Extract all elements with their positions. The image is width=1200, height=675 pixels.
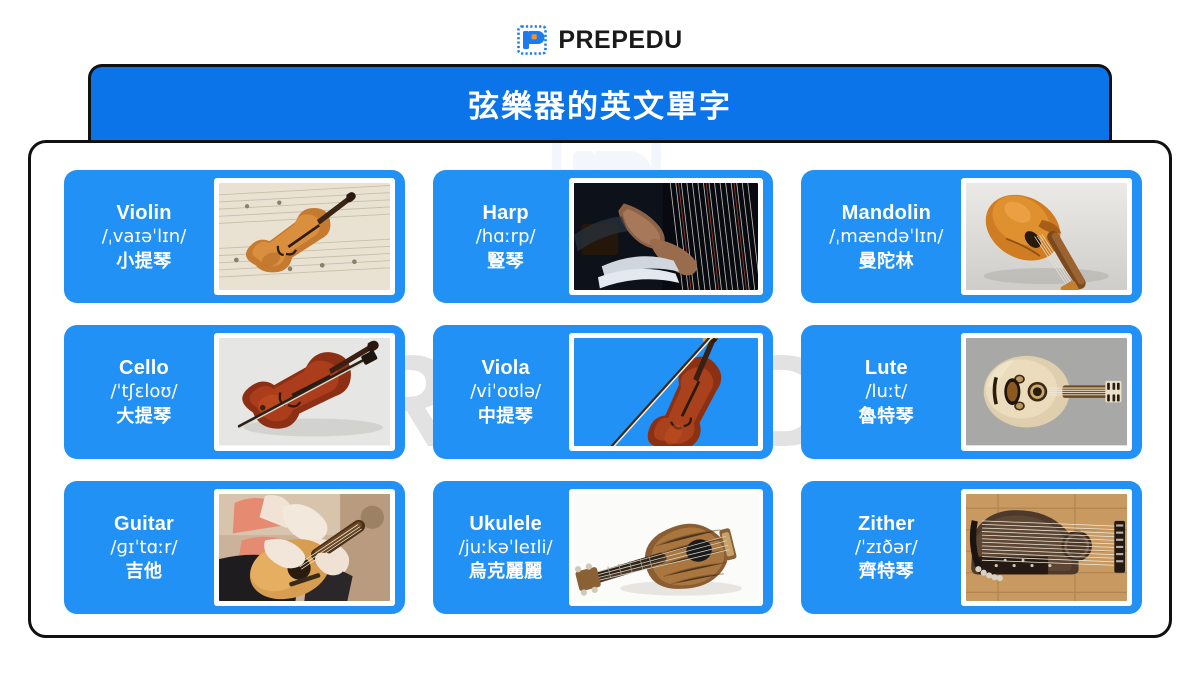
ipa-label: /ˌmændəˈlɪn/: [829, 226, 943, 249]
zither-photo: [961, 489, 1132, 606]
translation-label: 吉他: [126, 560, 163, 583]
cello-with-bow-photo: [214, 333, 395, 450]
vocab-card-text: Viola /viˈoʊlə/ 中提琴: [443, 356, 569, 427]
vocab-card-text: Mandolin /ˌmændəˈlɪn/ 曼陀林: [811, 201, 961, 272]
vocab-card-guitar[interactable]: Guitar /ɡɪˈtɑːr/ 吉他: [64, 481, 405, 614]
vocab-card-lute[interactable]: Lute /luːt/ 魯特琴: [801, 325, 1142, 458]
violin-on-sheet-music-photo: [214, 178, 395, 295]
translation-label: 小提琴: [116, 250, 172, 273]
translation-label: 齊特琴: [859, 560, 915, 583]
vocab-card-text: Harp /hɑːrp/ 豎琴: [443, 201, 569, 272]
poster-root: PREPEDU 弦樂器的英文單字 PREPEDU Violin /ˌvaɪəˈl…: [0, 0, 1200, 675]
word-label: Violin: [116, 201, 171, 225]
word-label: Zither: [858, 512, 915, 536]
vocab-card-viola[interactable]: Viola /viˈoʊlə/ 中提琴: [433, 325, 774, 458]
title-banner: 弦樂器的英文單字: [88, 64, 1112, 140]
ukulele-photo: [569, 489, 764, 606]
brand-header: PREPEDU: [0, 20, 1200, 60]
vocab-card-text: Ukulele /juːkəˈleɪli/ 烏克麗麗: [443, 512, 569, 583]
word-label: Guitar: [114, 512, 174, 536]
vocab-card-zither[interactable]: Zither /ˈzɪðər/ 齊特琴: [801, 481, 1142, 614]
translation-label: 豎琴: [487, 250, 524, 273]
vocab-card-text: Guitar /ɡɪˈtɑːr/ 吉他: [74, 512, 214, 583]
vocab-card-ukulele[interactable]: Ukulele /juːkəˈleɪli/ 烏克麗麗: [433, 481, 774, 614]
mandolin-photo: [961, 178, 1132, 295]
word-label: Mandolin: [842, 201, 931, 225]
translation-label: 魯特琴: [859, 405, 915, 428]
vocab-card-text: Cello /ˈtʃɛloʊ/ 大提琴: [74, 356, 214, 427]
vocab-card-cello[interactable]: Cello /ˈtʃɛloʊ/ 大提琴: [64, 325, 405, 458]
vocab-card-text: Violin /ˌvaɪəˈlɪn/ 小提琴: [74, 201, 214, 272]
word-label: Harp: [482, 201, 528, 225]
page-title: 弦樂器的英文單字: [468, 81, 732, 126]
word-label: Cello: [119, 356, 169, 380]
translation-label: 烏克麗麗: [469, 560, 543, 583]
harpist-playing-harp-photo: [569, 178, 764, 295]
vocab-card-harp[interactable]: Harp /hɑːrp/ 豎琴: [433, 170, 774, 303]
vocab-card-text: Lute /luːt/ 魯特琴: [811, 356, 961, 427]
ipa-label: /ˈtʃɛloʊ/: [110, 381, 177, 404]
ipa-label: /viˈoʊlə/: [470, 381, 541, 404]
lute-oud-photo: [961, 333, 1132, 450]
prepedu-p-logo-icon: [517, 24, 549, 56]
word-label: Lute: [865, 356, 908, 380]
translation-label: 中提琴: [478, 405, 534, 428]
vocab-card-mandolin[interactable]: Mandolin /ˌmændəˈlɪn/ 曼陀林: [801, 170, 1142, 303]
person-playing-acoustic-guitar-photo: [214, 489, 395, 606]
translation-label: 曼陀林: [859, 250, 915, 273]
ipa-label: /ˈzɪðər/: [855, 537, 918, 560]
vocab-card-violin[interactable]: Violin /ˌvaɪəˈlɪn/ 小提琴: [64, 170, 405, 303]
ipa-label: /hɑːrp/: [476, 226, 536, 249]
vocabulary-grid: Violin /ˌvaɪəˈlɪn/ 小提琴: [31, 143, 1172, 638]
brand-name: PREPEDU: [558, 28, 682, 53]
content-board: PREPEDU Violin /ˌvaɪəˈlɪn/ 小提琴: [28, 140, 1172, 638]
word-label: Ukulele: [469, 512, 542, 536]
viola-with-bow-photo: [569, 333, 764, 450]
translation-label: 大提琴: [116, 405, 172, 428]
ipa-label: /juːkəˈleɪli/: [459, 537, 553, 560]
ipa-label: /ɡɪˈtɑːr/: [110, 537, 177, 560]
vocab-card-text: Zither /ˈzɪðər/ 齊特琴: [811, 512, 961, 583]
ipa-label: /luːt/: [865, 381, 907, 404]
ipa-label: /ˌvaɪəˈlɪn/: [102, 226, 187, 249]
word-label: Viola: [481, 356, 529, 380]
